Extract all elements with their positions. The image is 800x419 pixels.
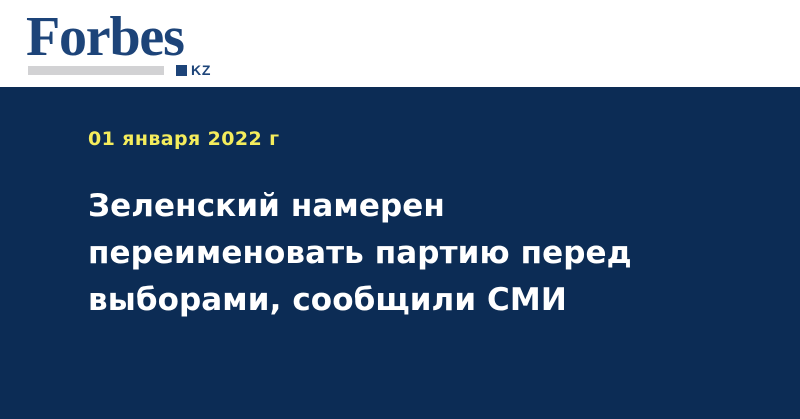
logo-square-icon <box>176 65 187 76</box>
headline-line-2: переименовать партию перед <box>88 230 708 277</box>
article-date: 01 января 2022 г <box>88 128 279 150</box>
article-headline[interactable]: Зеленский намерен переименовать партию п… <box>88 183 708 324</box>
logo-country-code-text: KZ <box>191 63 211 77</box>
article-panel: 01 января 2022 г Зеленский намерен переи… <box>0 87 800 419</box>
logo-wordmark-text: Forbes <box>26 9 184 65</box>
logo-underbar-icon <box>28 66 164 75</box>
site-header: Forbes KZ <box>0 0 800 87</box>
forbes-kz-logo[interactable]: Forbes KZ <box>26 9 236 81</box>
headline-line-1: Зеленский намерен <box>88 183 708 230</box>
headline-line-3: выборами, сообщили СМИ <box>88 277 708 324</box>
article-card: Forbes KZ 01 января 2022 г Зеленский нам… <box>0 0 800 419</box>
